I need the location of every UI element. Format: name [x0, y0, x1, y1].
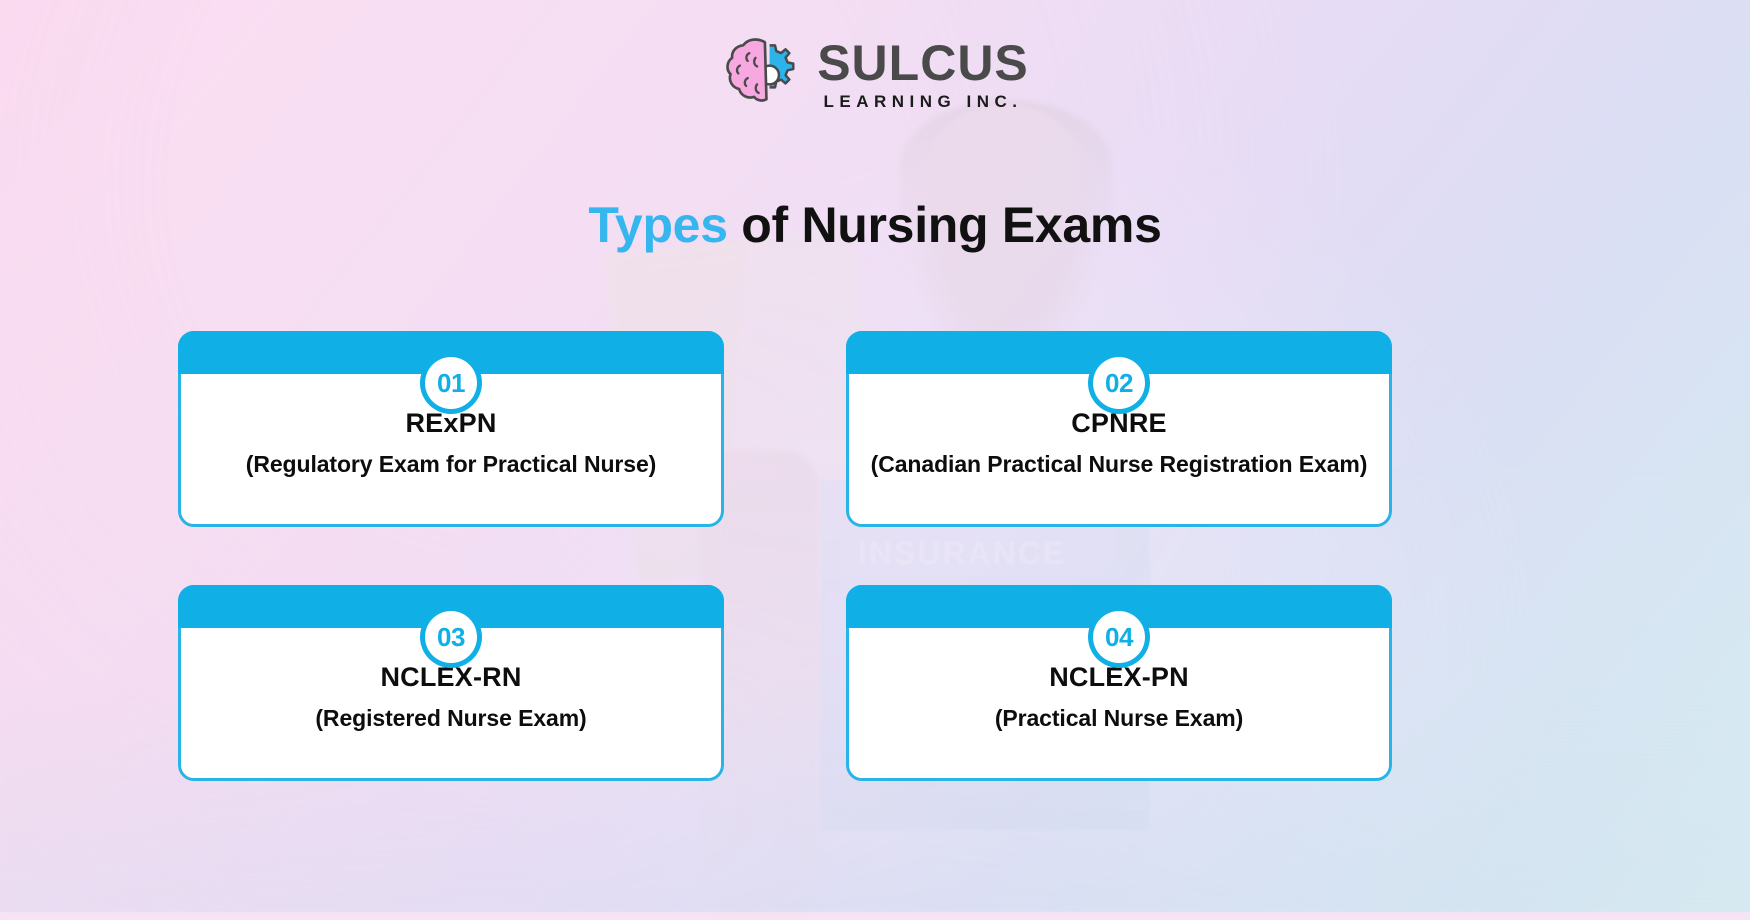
exam-card-04[interactable]: 04 NCLEX-PN (Practical Nurse Exam): [846, 585, 1392, 781]
card-number-badge: 01: [420, 352, 482, 414]
card-subtitle: (Canadian Practical Nurse Registration E…: [867, 448, 1371, 481]
card-number-label: 04: [1093, 611, 1145, 663]
exam-cards-grid: 01 RExPN (Regulatory Exam for Practical …: [178, 331, 1392, 781]
brain-gear-icon: [721, 34, 799, 116]
card-number-badge: 02: [1088, 352, 1150, 414]
card-body: CPNRE (Canadian Practical Nurse Registra…: [849, 408, 1389, 481]
page-title-rest: of Nursing Exams: [728, 197, 1162, 253]
card-subtitle: (Regulatory Exam for Practical Nurse): [199, 448, 703, 481]
card-number-label: 03: [425, 611, 477, 663]
card-body: NCLEX-PN (Practical Nurse Exam): [849, 662, 1389, 735]
card-number-badge: 03: [420, 606, 482, 668]
brand-logo: SULCUS LEARNING INC.: [721, 34, 1029, 116]
poster-content: SULCUS LEARNING INC. Types of Nursing Ex…: [0, 0, 1750, 912]
exam-card-01[interactable]: 01 RExPN (Regulatory Exam for Practical …: [178, 331, 724, 527]
page-title-accent: Types: [588, 197, 727, 253]
brand-tagline: LEARNING INC.: [823, 92, 1022, 112]
card-body: NCLEX-RN (Registered Nurse Exam): [181, 662, 721, 735]
card-subtitle: (Registered Nurse Exam): [199, 702, 703, 735]
card-subtitle: (Practical Nurse Exam): [867, 702, 1371, 735]
brand-name: SULCUS: [817, 39, 1029, 88]
exam-card-02[interactable]: 02 CPNRE (Canadian Practical Nurse Regis…: [846, 331, 1392, 527]
card-body: RExPN (Regulatory Exam for Practical Nur…: [181, 408, 721, 481]
card-number-badge: 04: [1088, 606, 1150, 668]
card-number-label: 01: [425, 357, 477, 409]
card-number-label: 02: [1093, 357, 1145, 409]
brand-wordmark: SULCUS LEARNING INC.: [817, 39, 1029, 112]
exam-card-03[interactable]: 03 NCLEX-RN (Registered Nurse Exam): [178, 585, 724, 781]
page-title: Types of Nursing Exams: [0, 196, 1750, 254]
